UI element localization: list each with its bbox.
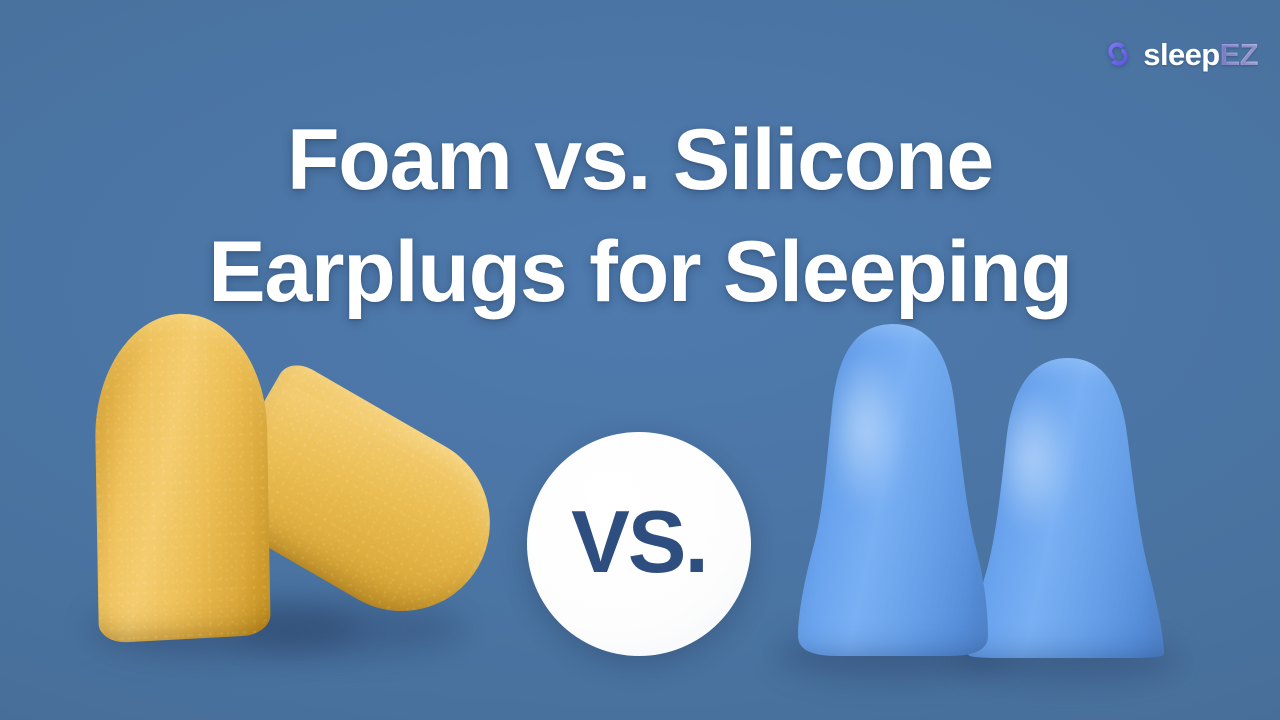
vs-label: VS. xyxy=(571,498,707,586)
brand-word-accent: EZ xyxy=(1220,37,1258,72)
foam-texture xyxy=(93,309,270,643)
silicone-earplugs xyxy=(770,300,1220,700)
silicone-earplug-right xyxy=(968,358,1164,658)
foam-earplug-upright xyxy=(96,314,268,639)
page-title: Foam vs. Silicone Earplugs for Sleeping xyxy=(0,104,1280,328)
title-line-1: Foam vs. Silicone xyxy=(0,104,1280,216)
vs-badge: VS. xyxy=(527,432,751,656)
sleepez-s-mark-icon xyxy=(1100,36,1136,72)
brand-word-primary: sleep xyxy=(1143,37,1219,72)
thumbnail-canvas: sleepEZ Foam vs. Silicone Earplugs for S… xyxy=(0,0,1280,720)
brand-wordmark: sleepEZ xyxy=(1143,39,1258,70)
silicone-highlight xyxy=(990,384,1074,534)
silicone-highlight xyxy=(824,348,906,510)
foam-earplugs xyxy=(60,300,520,700)
brand-logo[interactable]: sleepEZ xyxy=(1100,32,1258,76)
silicone-earplug-left xyxy=(798,324,988,656)
